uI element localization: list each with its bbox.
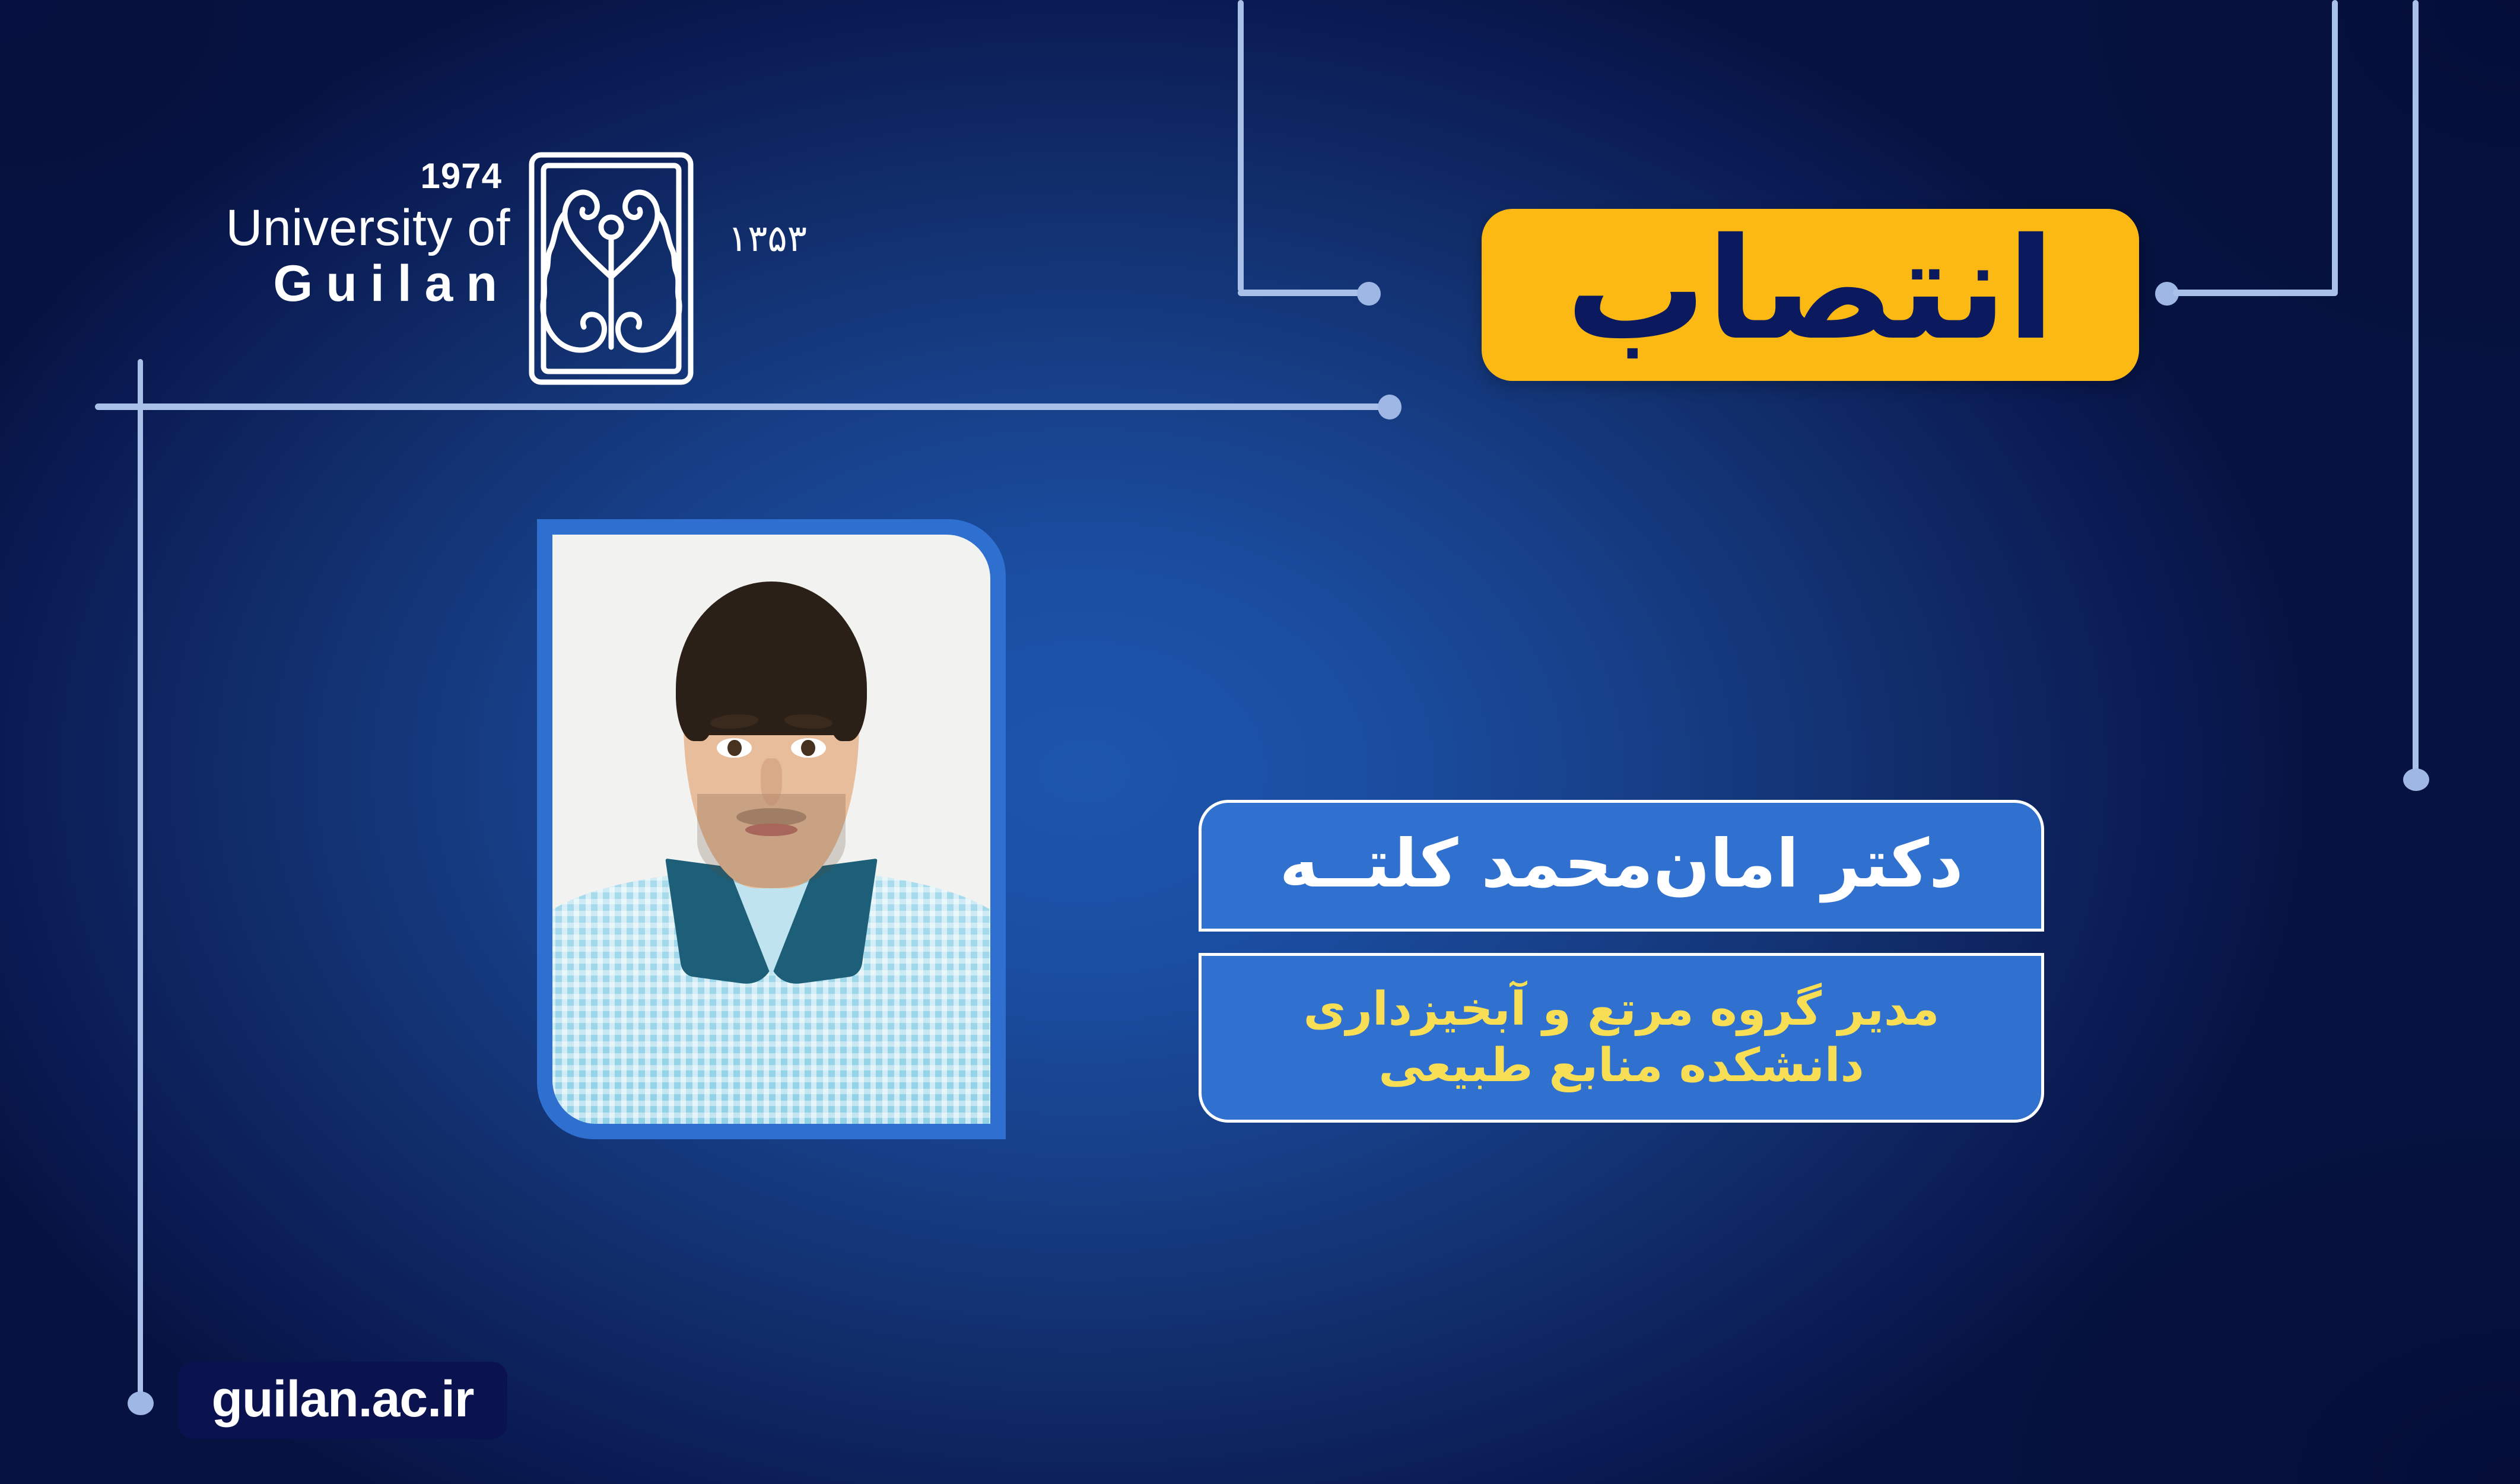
decor-line-horizontal-badge-left xyxy=(1238,290,1362,296)
decor-dot-vertical-left-end xyxy=(128,1391,154,1415)
website-badge[interactable]: guilan.ac.ir xyxy=(178,1362,507,1439)
logo-guilan-word: Guilan xyxy=(178,255,510,313)
person-name: دکتر امان‌محمد کلتــه xyxy=(1279,831,1963,897)
logo-founding-year-persian: ۱۳۵۳ xyxy=(728,217,807,260)
portrait-photo xyxy=(552,535,990,1124)
person-name-card: دکتر امان‌محمد کلتــه xyxy=(1199,800,2044,932)
decor-dot-vertical-right-end xyxy=(2403,768,2429,791)
logo-english-text: 1974 University of Guilan xyxy=(178,158,510,313)
portrait-pupil-right xyxy=(801,740,815,757)
person-position-card: مدیر گروه مرتع و آبخیزداری دانشکده منابع… xyxy=(1199,953,2044,1123)
decor-line-vertical-badge-right xyxy=(2332,0,2338,294)
portrait-hair-left-side xyxy=(676,641,715,741)
website-url: guilan.ac.ir xyxy=(211,1374,474,1425)
portrait-photo-frame xyxy=(537,519,1006,1139)
decor-dot-badge-left xyxy=(1357,282,1381,306)
decor-line-horizontal-left xyxy=(95,403,1388,410)
logo-persian-text: دانشگاه گیلان xyxy=(700,145,1216,383)
appointment-badge-label: انتصاب xyxy=(1566,220,2055,360)
logo-founding-year-gregorian: 1974 xyxy=(178,158,510,194)
portrait-pupil-left xyxy=(727,740,742,757)
person-position-line-1: مدیر گروه مرتع و آبخیزداری xyxy=(1304,981,1940,1038)
appointment-badge: انتصاب xyxy=(1482,209,2139,381)
person-position-line-2: دانشکده منابع طبیعی xyxy=(1378,1038,1864,1094)
decor-line-vertical-right xyxy=(2413,0,2419,777)
guilan-university-emblem-icon xyxy=(528,151,694,386)
university-logo: 1974 University of Guilan دانشگاه گ xyxy=(178,151,1222,401)
logo-university-word: University of xyxy=(178,202,510,255)
portrait-nose xyxy=(761,758,783,805)
decor-line-vertical-left xyxy=(138,359,143,1403)
decor-line-vertical-badge-left xyxy=(1238,0,1244,292)
decor-line-horizontal-badge-right xyxy=(2173,290,2338,296)
decor-dot-horizontal-left-end xyxy=(1378,395,1402,420)
svg-text:دانشگاه گیلان: دانشگاه گیلان xyxy=(1208,202,1216,331)
